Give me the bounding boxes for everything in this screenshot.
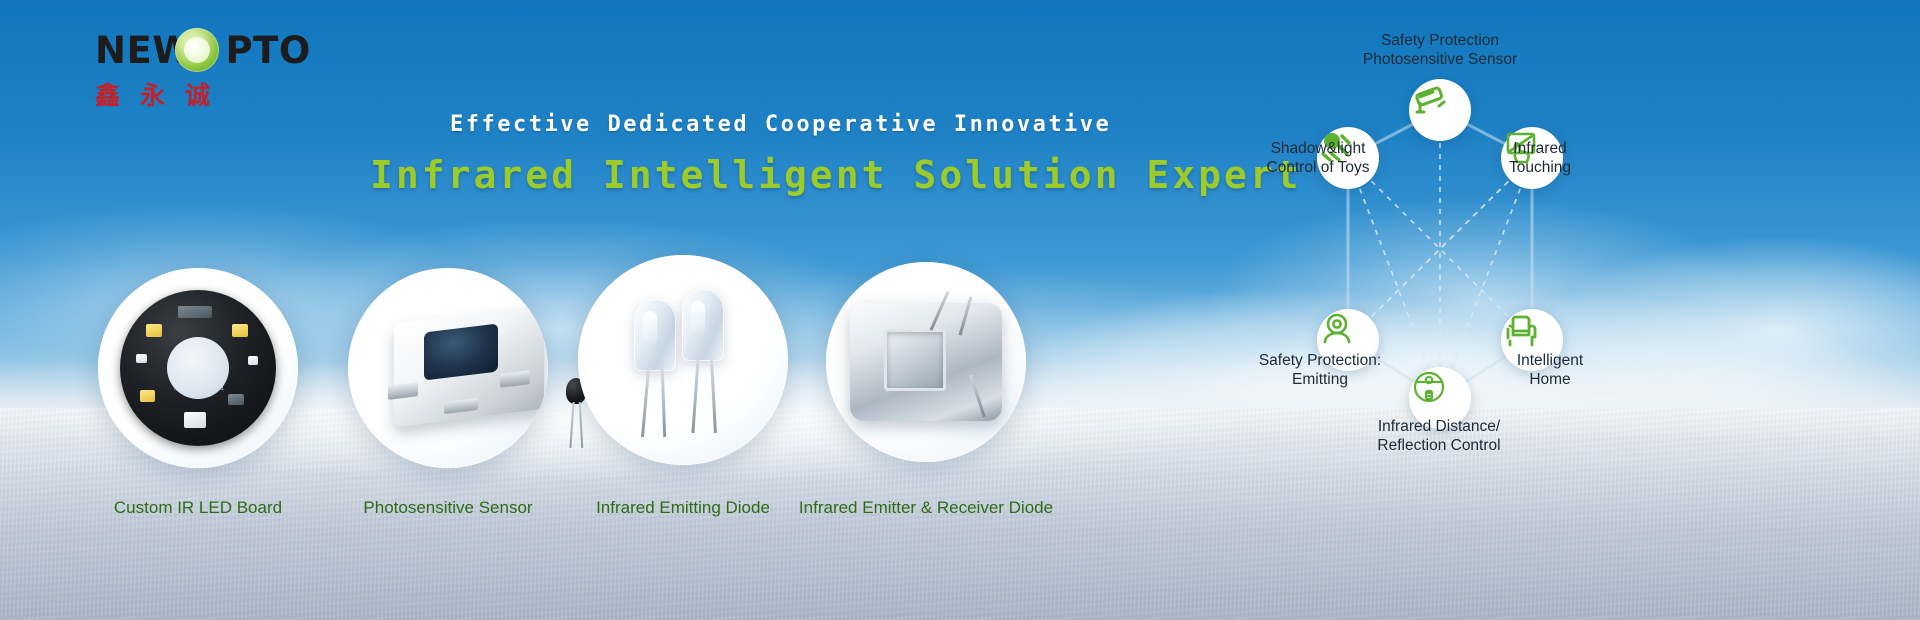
app-label-2-line2: Home [1450, 371, 1650, 390]
app-label-1: Infrared Touching [1440, 140, 1640, 178]
product-bubble-ir-led-board[interactable]: XYC-CD-M-01-V13 [98, 268, 298, 468]
logo-wordmark: NEWOPTO [95, 30, 305, 72]
application-hexagon-diagram: Safety Protection Photosensitive Sensor … [1140, 40, 1700, 580]
app-label-4: Safety Protection: Emitting [1210, 352, 1430, 390]
app-label-5-line1: Shadow&light [1198, 140, 1438, 159]
product-bubble-ir-emitting-diode[interactable] [578, 255, 788, 465]
hero-banner: NEWOPTO 鑫永诚 Effective Dedicated Cooperat… [0, 0, 1920, 620]
product-label-1: Photosensitive Sensor [338, 498, 558, 518]
product-bubble-emitter-receiver-diode[interactable] [826, 262, 1026, 462]
logo-chinese-name: 鑫永诚 [95, 76, 305, 112]
product-label-2: Infrared Emitting Diode [578, 498, 788, 518]
app-label-3-line1: Infrared Distance/ [1309, 418, 1569, 437]
banner-tagline: Effective Dedicated Cooperative Innovati… [450, 112, 1111, 137]
app-label-1-line1: Infrared [1440, 140, 1640, 159]
product-label-3: Infrared Emitter & Receiver Diode [796, 498, 1056, 518]
app-label-0-line1: Safety Protection [1300, 32, 1580, 51]
logo-text-pto: PTO [226, 29, 311, 72]
product-label-0: Custom IR LED Board [98, 498, 298, 518]
webcam-person-icon [1317, 309, 1357, 349]
ir-led-board-icon: XYC-CD-M-01-V13 [120, 290, 276, 446]
app-label-5: Shadow&light Control of Toys [1198, 140, 1438, 178]
app-label-0-line2: Photosensitive Sensor [1300, 51, 1580, 70]
product-bubble-photosensitive-sensor[interactable] [348, 268, 548, 468]
app-label-4-line2: Emitting [1210, 371, 1430, 390]
app-label-2-line1: Intelligent [1450, 352, 1650, 371]
armchair-icon [1501, 309, 1541, 349]
app-label-5-line2: Control of Toys [1198, 159, 1438, 178]
app-label-3: Infrared Distance/ Reflection Control [1309, 418, 1569, 456]
green-circle-o-icon [175, 28, 219, 72]
app-label-1-line2: Touching [1440, 159, 1640, 178]
app-node-safety-photosensitive[interactable] [1409, 79, 1471, 141]
app-label-3-line2: Reflection Control [1309, 437, 1569, 456]
security-camera-icon [1409, 79, 1449, 119]
app-label-4-line1: Safety Protection: [1210, 352, 1430, 371]
app-label-0: Safety Protection Photosensitive Sensor [1300, 32, 1580, 70]
app-label-2: Intelligent Home [1450, 352, 1650, 390]
company-logo[interactable]: NEWOPTO 鑫永诚 [95, 30, 305, 110]
